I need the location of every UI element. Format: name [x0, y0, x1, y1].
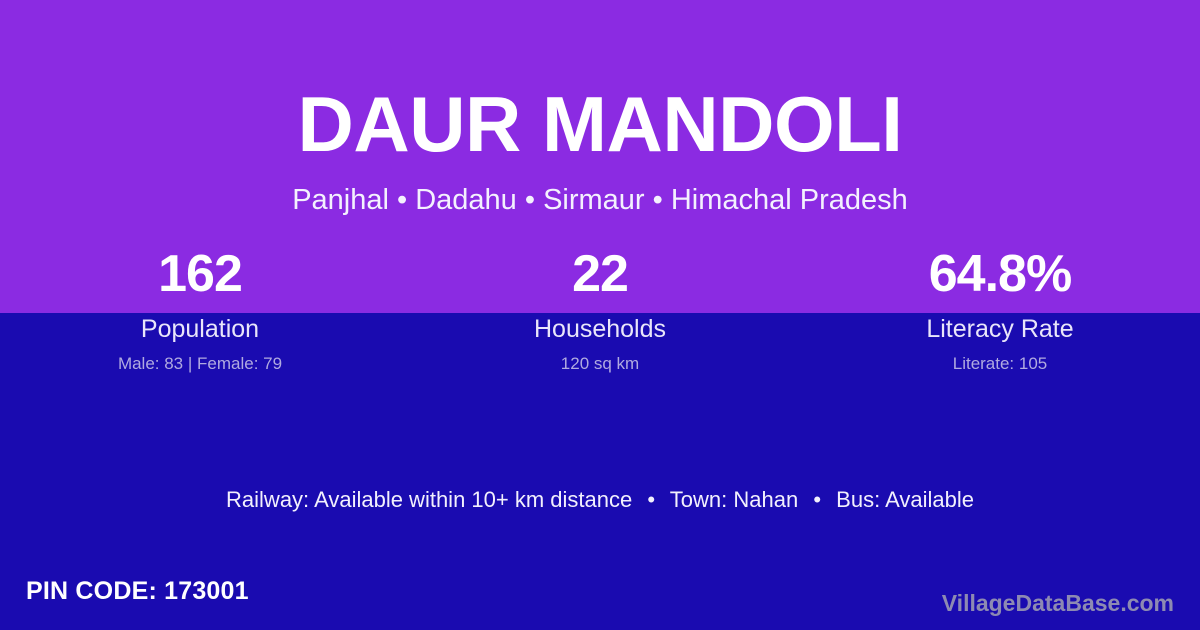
stat-value: 22	[400, 243, 800, 305]
amenity-separator: •	[804, 487, 830, 512]
stat-households: 22 Households 120 sq km	[400, 243, 800, 374]
stat-label: Population	[0, 315, 400, 343]
amenity-bus: Bus: Available	[836, 487, 974, 512]
stat-value: 162	[0, 243, 400, 305]
stat-label: Literacy Rate	[800, 315, 1200, 343]
breadcrumb: Panjhal • Dadahu • Sirmaur • Himachal Pr…	[0, 181, 1200, 219]
pin-code: PIN CODE: 173001	[26, 576, 249, 606]
site-brand: VillageDataBase.com	[942, 589, 1174, 617]
stat-population: 162 Population Male: 83 | Female: 79	[0, 243, 400, 374]
stat-sublabel: 120 sq km	[400, 354, 800, 374]
hero-section: DAUR MANDOLI Panjhal • Dadahu • Sirmaur …	[0, 0, 1200, 240]
stat-value: 64.8%	[800, 243, 1200, 305]
amenity-separator: •	[638, 487, 664, 512]
stat-sublabel: Literate: 105	[800, 354, 1200, 374]
page-title: DAUR MANDOLI	[0, 82, 1200, 166]
village-info-card: DAUR MANDOLI Panjhal • Dadahu • Sirmaur …	[0, 0, 1200, 630]
stat-sublabel: Male: 83 | Female: 79	[0, 354, 400, 374]
stat-label: Households	[400, 315, 800, 343]
stat-literacy-rate: 64.8% Literacy Rate Literate: 105	[800, 243, 1200, 374]
amenity-town: Town: Nahan	[670, 487, 798, 512]
amenities-line: Railway: Available within 10+ km distanc…	[0, 486, 1200, 514]
stats-row: 162 Population Male: 83 | Female: 79 22 …	[0, 243, 1200, 374]
amenity-railway: Railway: Available within 10+ km distanc…	[226, 487, 632, 512]
